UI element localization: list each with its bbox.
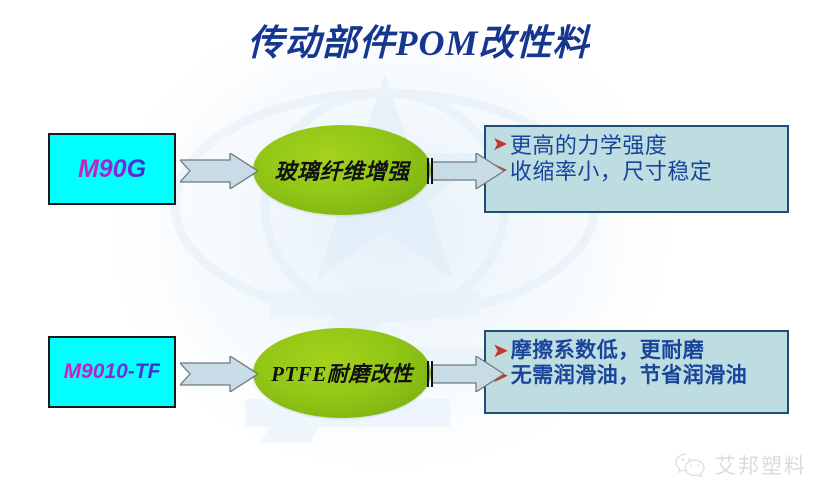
benefit-item: ➤ 摩擦系数低，更耐磨 <box>492 338 783 363</box>
benefit-item: ➤ 收缩率小，尺寸稳定 <box>492 159 783 185</box>
arrow-tail-tick-2 <box>427 361 434 387</box>
arrow-grade-to-process-1 <box>180 153 258 189</box>
benefit-text: 收缩率小，尺寸稳定 <box>510 159 713 185</box>
wechat-icon <box>673 450 707 480</box>
benefit-text: 摩擦系数低，更耐磨 <box>511 338 705 363</box>
benefit-text: 更高的力学强度 <box>510 133 668 159</box>
watermark: 艾邦塑料 <box>673 450 807 480</box>
arrow-grade-to-process-2 <box>180 356 258 392</box>
benefit-item: ➤ 无需润滑油，节省润滑油 <box>492 363 783 388</box>
arrow-process-to-benefits-2 <box>432 356 504 392</box>
process-ellipse-1[interactable]: 玻璃纤维增强 <box>253 125 431 215</box>
flow-row-1: M90G 玻璃纤维增强 ➤ 更高的力学强度 ➤ 收缩率小，尺寸稳定 <box>0 117 837 227</box>
flow-row-2: M9010-TF PTFE耐磨改性 ➤ 摩擦系数低，更耐磨 ➤ 无需润滑油，节省… <box>0 320 837 430</box>
slide-canvas: 传动部件POM改性料 M90G 玻璃纤维增强 ➤ 更高的力学强度 ➤ 收缩率小，… <box>0 0 837 492</box>
grade-box-2[interactable]: M9010-TF <box>48 336 176 408</box>
process-label-1: 玻璃纤维增强 <box>274 154 409 186</box>
benefits-box-1[interactable]: ➤ 更高的力学强度 ➤ 收缩率小，尺寸稳定 <box>484 125 789 213</box>
arrow-tail-tick-1 <box>427 158 434 184</box>
watermark-label: 艾邦塑料 <box>715 450 807 480</box>
grade-box-1[interactable]: M90G <box>48 133 176 205</box>
grade-label-1: M90G <box>78 155 146 184</box>
benefit-item: ➤ 更高的力学强度 <box>492 133 783 159</box>
arrow-process-to-benefits-1 <box>432 153 504 189</box>
process-label-2: PTFE耐磨改性 <box>271 358 413 388</box>
grade-label-2: M9010-TF <box>64 360 161 384</box>
page-title: 传动部件POM改性料 <box>0 14 837 66</box>
process-ellipse-2[interactable]: PTFE耐磨改性 <box>253 328 431 418</box>
benefits-box-2[interactable]: ➤ 摩擦系数低，更耐磨 ➤ 无需润滑油，节省润滑油 <box>484 330 789 414</box>
benefit-text: 无需润滑油，节省润滑油 <box>511 363 748 388</box>
